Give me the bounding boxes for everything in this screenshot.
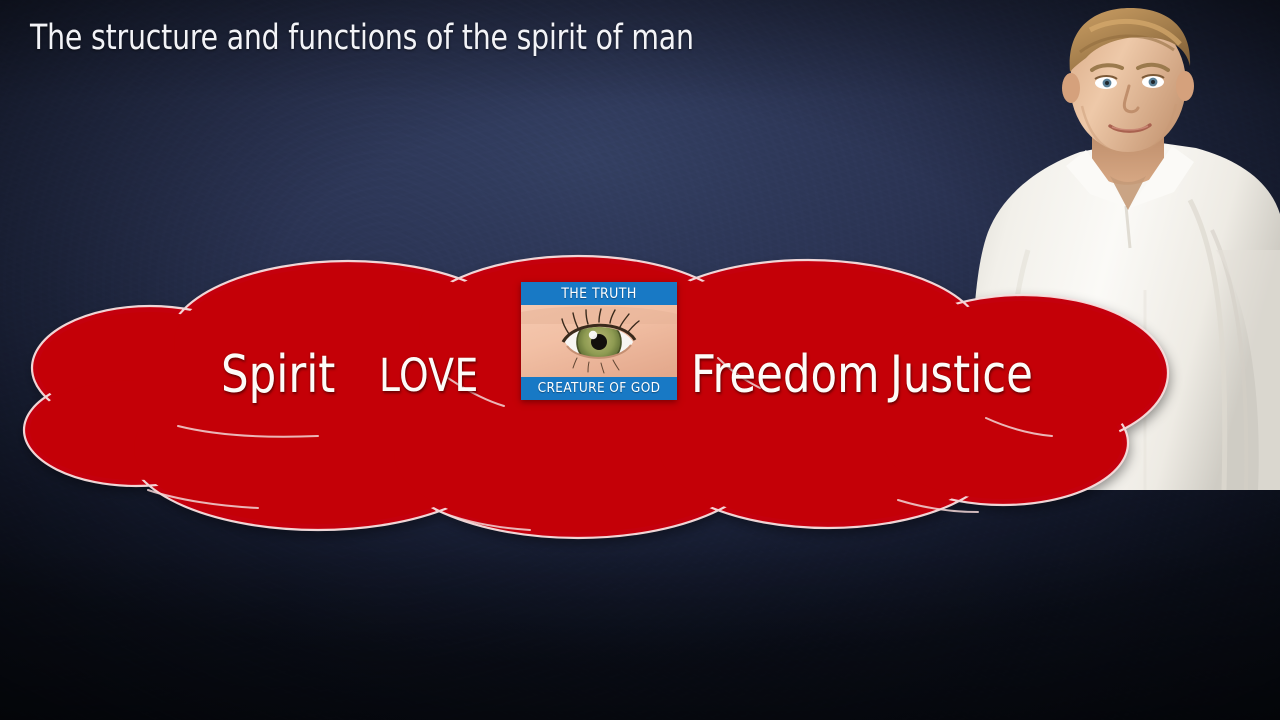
cloud-word-justice: Justice (890, 345, 1033, 405)
slide-canvas: THE TRUTH CREATURE OF GOD Spirit LOVE Fr… (0, 0, 1280, 720)
cloud-word-freedom: Freedom (691, 345, 880, 405)
slide-title: The structure and functions of the spiri… (30, 18, 694, 58)
eye-truth-image: THE TRUTH CREATURE OF GOD (521, 282, 677, 400)
cloud-word-spirit: Spirit (221, 345, 335, 405)
cloud-word-love: LOVE (379, 349, 479, 402)
